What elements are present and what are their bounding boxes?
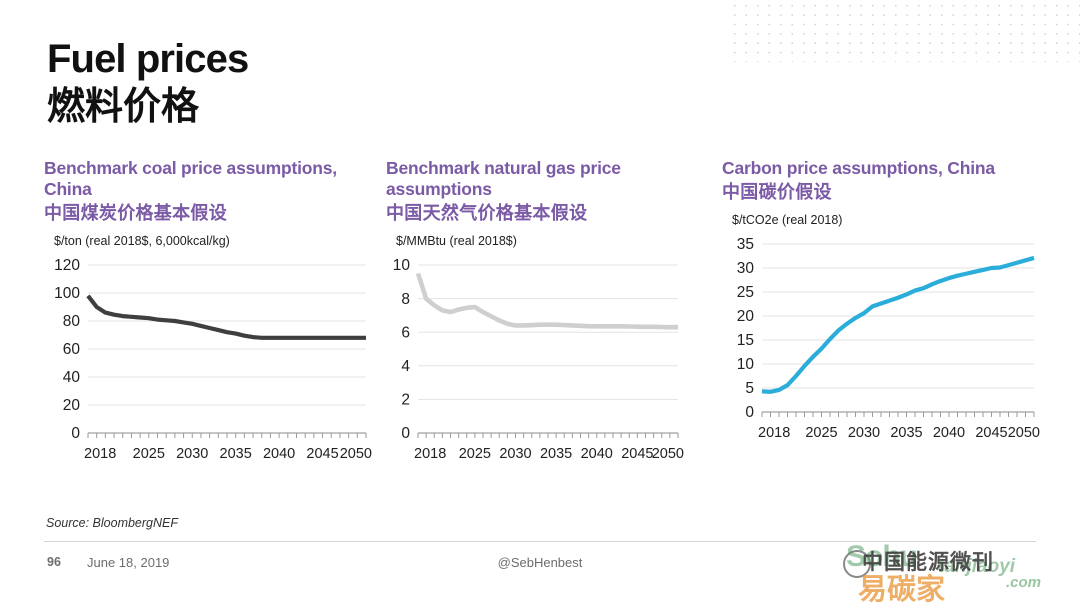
svg-text:4: 4 xyxy=(401,358,410,375)
svg-text:20: 20 xyxy=(63,397,81,414)
chart-title-gas: Benchmark natural gas price assumptions xyxy=(386,158,686,200)
svg-text:2045: 2045 xyxy=(621,446,653,462)
chart-title-carbon: Carbon price assumptions, China xyxy=(722,158,1042,179)
svg-text:6: 6 xyxy=(401,324,410,341)
svg-text:2018: 2018 xyxy=(758,425,790,441)
footer-divider xyxy=(44,541,1036,542)
chart-title-coal: Benchmark coal price assumptions, China xyxy=(44,158,374,200)
chart-title-cn-gas: 中国天然气价格基本假设 xyxy=(386,202,686,225)
svg-text:2025: 2025 xyxy=(805,425,837,441)
svg-text:100: 100 xyxy=(54,285,80,302)
chart-unit-coal: $/ton (real 2018$, 6,000kcal/kg) xyxy=(54,234,374,249)
svg-text:2045: 2045 xyxy=(975,425,1007,441)
footer-handle: @SebHenbest xyxy=(44,555,1036,570)
svg-text:30: 30 xyxy=(737,260,755,277)
chart-plot-coal: 0204060801001202018202520302035204020452… xyxy=(44,255,374,480)
svg-text:35: 35 xyxy=(737,236,754,253)
svg-text:2025: 2025 xyxy=(459,446,491,462)
chart-plot-gas: 02468102018202520302035204020452050 xyxy=(386,255,686,480)
svg-text:2040: 2040 xyxy=(263,446,295,462)
svg-text:2018: 2018 xyxy=(84,446,116,462)
svg-text:0: 0 xyxy=(71,425,80,442)
chart-title-cn-coal: 中国煤炭价格基本假设 xyxy=(44,202,374,225)
chart-panel-coal: Benchmark coal price assumptions, China … xyxy=(44,158,374,480)
chart-plot-carbon: 0510152025303520182025203020352040204520… xyxy=(722,234,1042,459)
page-title-cn: 燃料价格 xyxy=(47,84,687,130)
footer-bar: 96 June 18, 2019 @SebHenbest xyxy=(44,551,1036,577)
page-title: Fuel prices xyxy=(47,36,687,82)
svg-text:15: 15 xyxy=(737,332,754,349)
svg-text:120: 120 xyxy=(54,257,80,274)
svg-text:20: 20 xyxy=(737,308,755,325)
svg-text:25: 25 xyxy=(737,284,754,301)
svg-text:2040: 2040 xyxy=(581,446,613,462)
chart-panel-carbon: Carbon price assumptions, China 中国碳价假设 $… xyxy=(722,158,1042,459)
svg-text:2035: 2035 xyxy=(540,446,572,462)
svg-text:2030: 2030 xyxy=(848,425,880,441)
svg-text:40: 40 xyxy=(63,369,81,386)
svg-text:8: 8 xyxy=(401,291,410,308)
svg-text:2045: 2045 xyxy=(306,446,338,462)
svg-text:10: 10 xyxy=(737,356,755,373)
chart-svg-carbon: 0510152025303520182025203020352040204520… xyxy=(722,234,1042,459)
chart-svg-coal: 0204060801001202018202520302035204020452… xyxy=(44,255,374,480)
chart-unit-carbon: $/tCO2e (real 2018) xyxy=(732,213,1042,228)
svg-text:0: 0 xyxy=(745,404,754,421)
svg-text:2025: 2025 xyxy=(133,446,165,462)
svg-text:2035: 2035 xyxy=(890,425,922,441)
svg-text:60: 60 xyxy=(63,341,81,358)
svg-text:2030: 2030 xyxy=(499,446,531,462)
svg-text:2050: 2050 xyxy=(340,446,372,462)
svg-text:2050: 2050 xyxy=(1008,425,1040,441)
chart-title-cn-carbon: 中国碳价假设 xyxy=(722,181,1042,204)
svg-text:2018: 2018 xyxy=(414,446,446,462)
svg-text:80: 80 xyxy=(63,313,81,330)
svg-text:2040: 2040 xyxy=(933,425,965,441)
chart-unit-gas: $/MMBtu (real 2018$) xyxy=(396,234,686,249)
svg-text:2030: 2030 xyxy=(176,446,208,462)
chart-panel-gas: Benchmark natural gas price assumptions … xyxy=(386,158,686,480)
svg-text:10: 10 xyxy=(393,257,411,274)
slide-canvas: Fuel prices 燃料价格 Benchmark coal price as… xyxy=(0,0,1080,608)
svg-text:0: 0 xyxy=(401,425,410,442)
decorative-dot-grid xyxy=(727,0,1080,62)
svg-text:5: 5 xyxy=(745,380,754,397)
slide-title-block: Fuel prices 燃料价格 xyxy=(47,36,687,130)
svg-text:2035: 2035 xyxy=(220,446,252,462)
svg-text:2050: 2050 xyxy=(652,446,684,462)
chart-svg-gas: 02468102018202520302035204020452050 xyxy=(386,255,686,480)
source-note: Source: BloombergNEF xyxy=(46,516,178,530)
svg-text:2: 2 xyxy=(401,392,410,409)
